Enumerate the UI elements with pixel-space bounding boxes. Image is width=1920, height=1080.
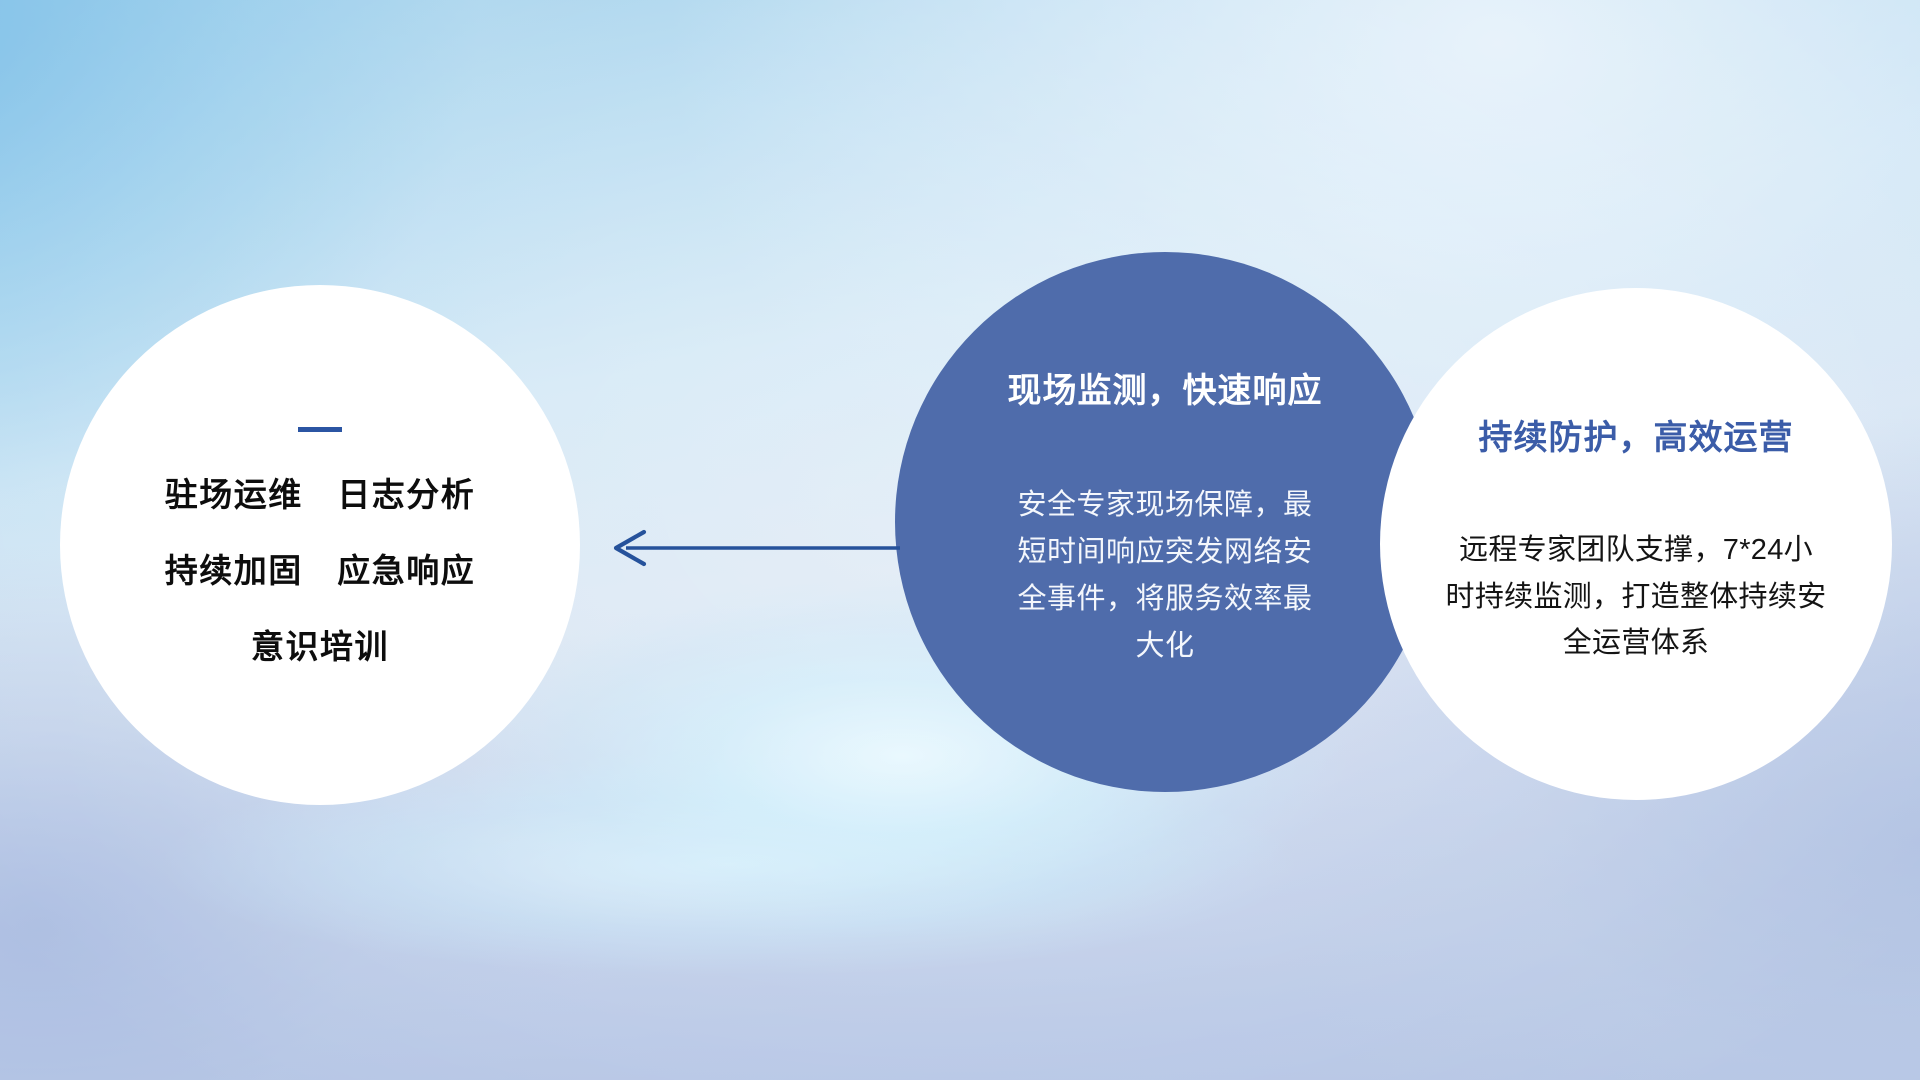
left-capability-circle[interactable]: 驻场运维 日志分析 持续加固 应急响应 意识培训 [60, 285, 580, 805]
right-circle-content: 持续防护，高效运营 远程专家团队支撑，7*24小时持续监测，打造整体持续安全运营… [1380, 288, 1892, 800]
capability-line-1: 驻场运维 日志分析 [165, 478, 476, 511]
middle-circle-title: 现场监测，快速响应 [1008, 374, 1323, 408]
middle-circle-body: 安全专家现场保障，最短时间响应突发网络安全事件，将服务效率最大化 [1015, 482, 1315, 670]
continuous-operations-circle[interactable]: 持续防护，高效运营 远程专家团队支撑，7*24小时持续监测，打造整体持续安全运营… [1380, 288, 1892, 800]
right-circle-body: 远程专家团队支撑，7*24小时持续监测，打造整体持续安全运营体系 [1445, 527, 1827, 668]
right-circle-title: 持续防护，高效运营 [1479, 421, 1794, 455]
dash-mark-icon [298, 427, 342, 432]
capability-line-3: 意识培训 [251, 630, 389, 663]
middle-circle-content: 现场监测，快速响应 安全专家现场保障，最短时间响应突发网络安全事件，将服务效率最… [895, 252, 1435, 792]
arrow-left-icon [600, 522, 900, 574]
onsite-monitoring-circle[interactable]: 现场监测，快速响应 安全专家现场保障，最短时间响应突发网络安全事件，将服务效率最… [895, 252, 1435, 792]
left-circle-content: 驻场运维 日志分析 持续加固 应急响应 意识培训 [60, 285, 580, 805]
capability-line-2: 持续加固 应急响应 [165, 554, 476, 587]
slide-canvas: 驻场运维 日志分析 持续加固 应急响应 意识培训 现场监测，快速响应 安全专家现… [0, 0, 1920, 1080]
